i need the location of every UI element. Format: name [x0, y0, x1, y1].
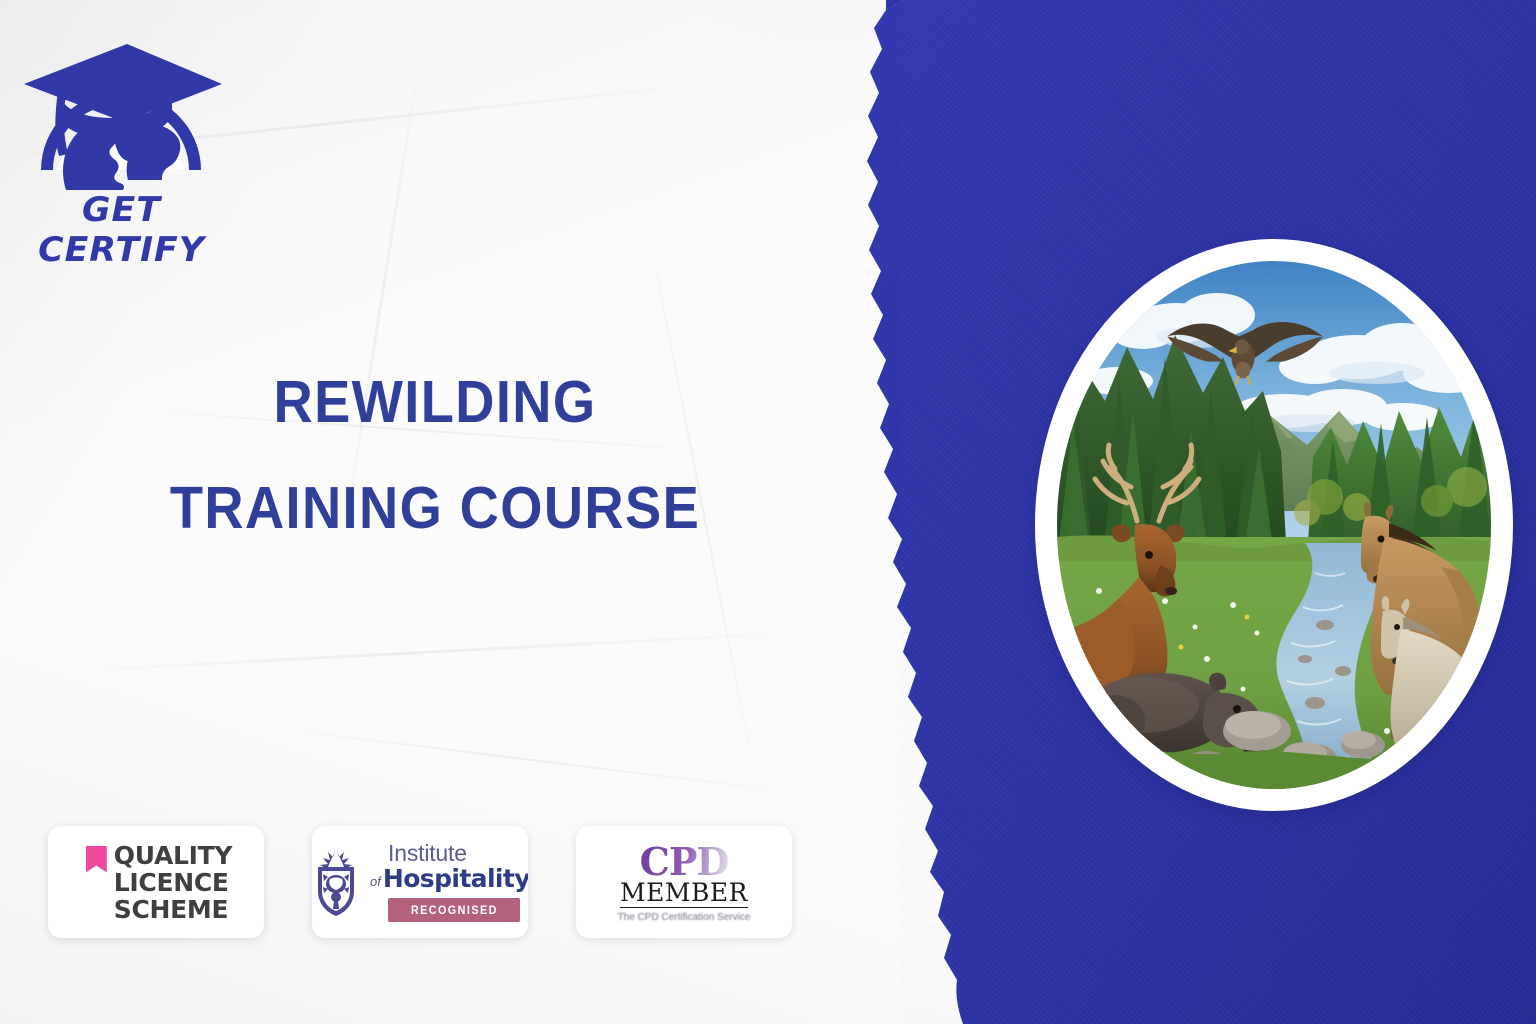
cpd-subtitle: MEMBER [620, 880, 748, 908]
ioh-of: of [370, 875, 381, 888]
qls-label: QUALITY LICENCE SCHEME [114, 842, 232, 923]
qls-line-3: SCHEME [114, 896, 232, 923]
ioh-line-1: Institute [388, 842, 528, 865]
poster-canvas: GET CERTIFY REWILDING TRAINING COURSE [0, 0, 1536, 1024]
ioh-line-2: Hospitality [383, 866, 528, 891]
rewilding-wildlife-scene [1057, 261, 1491, 789]
heraldic-crest-icon [312, 847, 362, 917]
graduation-cap-globe-icon [14, 22, 229, 197]
page-title: REWILDING TRAINING COURSE [0, 372, 870, 540]
brand-name: GET CERTIFY [12, 190, 231, 270]
ioh-status-label: RECOGNISED [411, 903, 498, 917]
hero-image-circle [1035, 239, 1513, 811]
title-line-1: REWILDING [35, 372, 835, 434]
brand-logo[interactable]: GET CERTIFY [14, 22, 229, 222]
badge-institute-of-hospitality[interactable]: Institute of Hospitality RECOGNISED [312, 826, 528, 938]
qls-line-2: LICENCE [114, 869, 232, 896]
qls-line-1: QUALITY [114, 842, 232, 869]
badge-quality-licence-scheme[interactable]: QUALITY LICENCE SCHEME [48, 826, 264, 938]
cpd-caption: The CPD Certification Service [618, 912, 751, 925]
cpd-title: CPD [640, 844, 729, 880]
badge-cpd-member[interactable]: CPD MEMBER The CPD Certification Service [576, 826, 792, 938]
title-line-2: TRAINING COURSE [35, 478, 835, 540]
pink-bookmark-icon [86, 846, 107, 873]
ioh-status-badge: RECOGNISED [388, 898, 520, 922]
accreditation-badges: QUALITY LICENCE SCHEME [48, 826, 792, 938]
